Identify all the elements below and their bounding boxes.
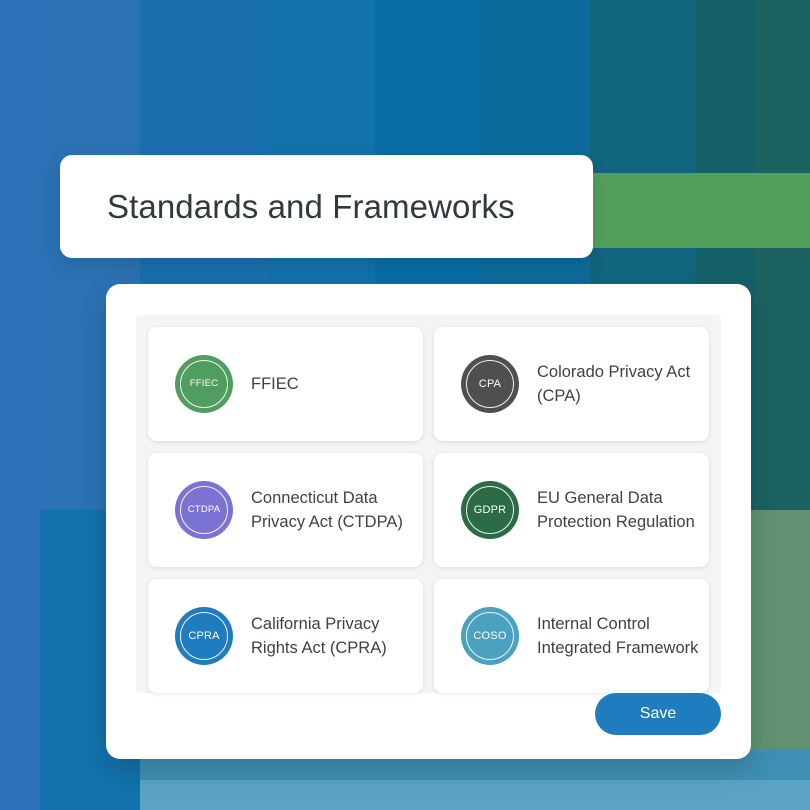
framework-label: EU General Data Protection Regulation <box>537 486 705 534</box>
framework-label: California Privacy Rights Act (CPRA) <box>251 612 419 660</box>
background-band <box>140 780 810 810</box>
panel-footer: Save <box>106 693 721 735</box>
framework-badge-abbr: CTDPA <box>188 505 221 515</box>
frameworks-list-region: FFIECFFIECCPAColorado Privacy Act (CPA)C… <box>136 315 721 693</box>
framework-badge-abbr: GDPR <box>474 505 507 516</box>
frameworks-panel: FFIECFFIECCPAColorado Privacy Act (CPA)C… <box>106 284 751 759</box>
framework-card-colorado-privacy-act[interactable]: CPAColorado Privacy Act (CPA) <box>434 327 709 441</box>
save-button[interactable]: Save <box>595 693 721 735</box>
framework-badge-icon-california-privacy-rights-act: CPRA <box>175 607 233 665</box>
background-band <box>755 0 810 510</box>
page-header-card: Standards and Frameworks <box>60 155 593 258</box>
framework-badge-icon-ffiec: FFIEC <box>175 355 233 413</box>
framework-card-eu-gdpr[interactable]: GDPREU General Data Protection Regulatio… <box>434 453 709 567</box>
framework-badge-icon-connecticut-data-privacy-act: CTDPA <box>175 481 233 539</box>
framework-badge-abbr: CPA <box>479 379 501 390</box>
framework-card-coso-internal-control[interactable]: COSOInternal Control Integrated Framewor… <box>434 579 709 693</box>
framework-badge-icon-coso-internal-control: COSO <box>461 607 519 665</box>
page-title: Standards and Frameworks <box>60 188 515 226</box>
framework-badge-icon-eu-gdpr: GDPR <box>461 481 519 539</box>
background-band <box>0 0 40 810</box>
framework-badge-abbr: CPRA <box>188 631 219 642</box>
framework-card-california-privacy-rights-act[interactable]: CPRACalifornia Privacy Rights Act (CPRA) <box>148 579 423 693</box>
framework-label: Colorado Privacy Act (CPA) <box>537 360 705 408</box>
framework-badge-abbr: COSO <box>473 631 506 642</box>
framework-label: FFIEC <box>251 372 299 396</box>
framework-badge-abbr: FFIEC <box>190 379 218 389</box>
framework-badge-icon-colorado-privacy-act: CPA <box>461 355 519 413</box>
framework-card-connecticut-data-privacy-act[interactable]: CTDPAConnecticut Data Privacy Act (CTDPA… <box>148 453 423 567</box>
framework-card-ffiec[interactable]: FFIECFFIEC <box>148 327 423 441</box>
frameworks-grid: FFIECFFIECCPAColorado Privacy Act (CPA)C… <box>148 327 709 693</box>
framework-label: Connecticut Data Privacy Act (CTDPA) <box>251 486 419 534</box>
framework-label: Internal Control Integrated Framework <box>537 612 705 660</box>
screenshot-root: Standards and Frameworks FFIECFFIECCPACo… <box>0 0 810 810</box>
